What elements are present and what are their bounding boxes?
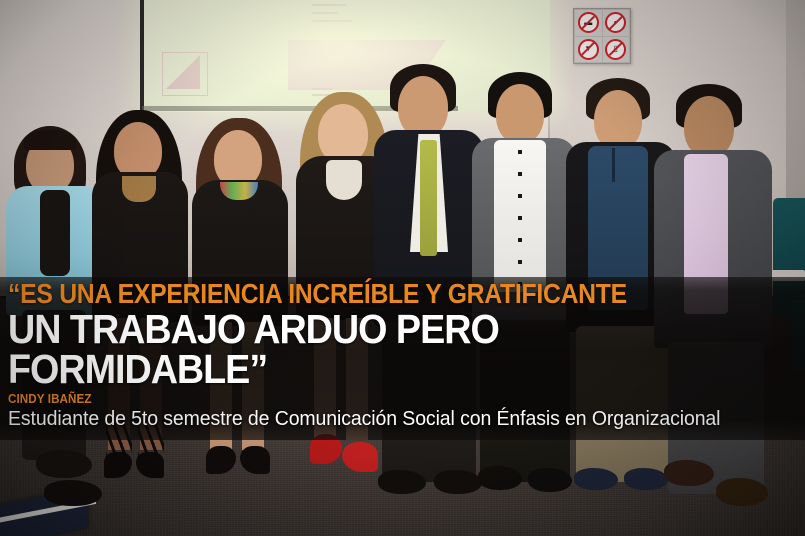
person-5-tie: [420, 140, 437, 256]
person-7-head: [594, 90, 642, 150]
no-smoking-icon: ▬: [578, 12, 599, 33]
sign-cell-no-phone: ▯: [603, 37, 630, 63]
quote-headline-line-2: FORMIDABLE”: [8, 350, 735, 388]
photo-banner: ▬ ◓ ▼ ▯: [0, 0, 805, 536]
person-6-shirt-buttons: [518, 150, 522, 286]
no-food-icon: ◓: [605, 12, 626, 33]
person-1-shoe: [44, 480, 102, 506]
person-1-bangs: [24, 130, 76, 150]
person-5-head: [398, 76, 448, 138]
prohibition-sign-plate: ▬ ◓ ▼ ▯: [573, 8, 631, 64]
quote-text-block: “ES UNA EXPERIENCIA INCREÍBLE Y GRATIFIC…: [8, 279, 798, 430]
person-8-shoe: [664, 460, 714, 486]
person-8-shoe: [716, 478, 768, 506]
slide-text-line: [312, 4, 346, 6]
person-7-polo-placket: [612, 148, 615, 182]
no-drinks-icon: ▼: [578, 39, 599, 60]
person-4-head: [318, 104, 368, 164]
person-5-shoe: [378, 470, 426, 494]
slide-text-line: [312, 20, 352, 22]
person-7-shoe: [574, 468, 618, 490]
person-5-shoe: [434, 470, 482, 494]
sign-cell-no-smoking: ▬: [575, 10, 602, 36]
person-1-inner-top: [40, 190, 70, 276]
screen-frame-left: [140, 0, 144, 112]
quote-kicker: “ES UNA EXPERIENCIA INCREÍBLE Y GRATIFIC…: [8, 279, 719, 308]
person-4-blouse: [326, 160, 362, 200]
person-2-necklace: [122, 176, 156, 202]
person-6-shoe: [528, 468, 572, 492]
sign-cell-no-drinks: ▼: [575, 37, 602, 63]
quote-byline-role: Estudiante de 5to semestre de Comunicaci…: [8, 407, 759, 430]
no-mobile-phone-icon: ▯: [605, 39, 626, 60]
slide-text-line: [312, 12, 338, 14]
quote-headline-line-1: UN TRABAJO ARDUO PERO: [8, 310, 735, 348]
sign-cell-no-food: ◓: [603, 10, 630, 36]
person-7-shoe: [624, 468, 668, 490]
person-8-head: [684, 96, 734, 158]
person-1-shoe: [36, 450, 92, 478]
quote-byline-name: CINDY IBAÑEZ: [8, 392, 743, 406]
person-6-head: [496, 84, 544, 144]
person-6-shoe: [478, 466, 522, 490]
